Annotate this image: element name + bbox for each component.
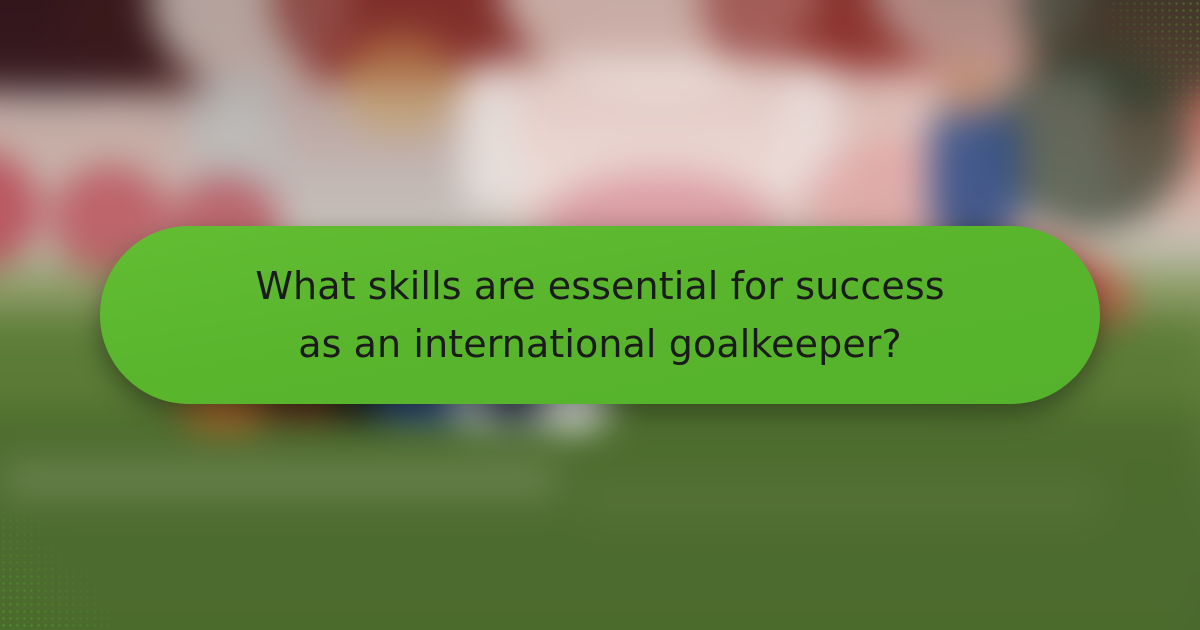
advert-board-blob	[340, 35, 460, 135]
pitch-band	[0, 410, 1200, 630]
pitch-line	[580, 480, 1100, 520]
barrier-blob	[990, 50, 1190, 230]
standing-player-blob	[940, 60, 1000, 120]
question-text: What skills are essential for success as…	[230, 257, 970, 373]
question-card: What skills are essential for success as…	[100, 226, 1100, 404]
pitch-line	[0, 460, 560, 500]
social-card-canvas: What skills are essential for success as…	[0, 0, 1200, 630]
